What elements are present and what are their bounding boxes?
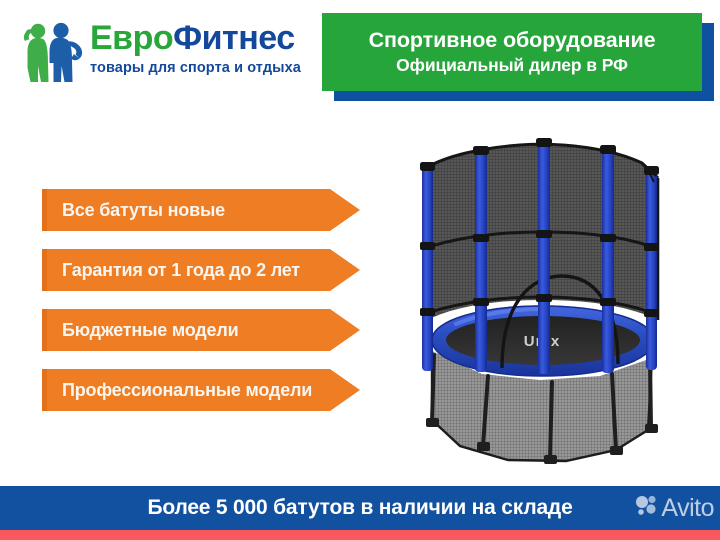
feature-label-1: Все батуты новые xyxy=(42,200,225,221)
feature-arrow-2: Гарантия от 1 года до 2 лет xyxy=(42,249,360,291)
promo-banner-page: ЕвроФитнес товары для спорта и отдыха Сп… xyxy=(0,0,720,540)
avito-dots-icon xyxy=(635,494,659,523)
footer-accent-strip xyxy=(0,530,720,540)
feature-label-2: Гарантия от 1 года до 2 лет xyxy=(42,260,300,281)
feature-label-4: Профессиональные модели xyxy=(42,380,312,401)
avito-watermark: Avito xyxy=(635,494,714,523)
footer-banner: Более 5 000 батутов в наличии на складе … xyxy=(0,486,720,540)
feature-label-3: Бюджетные модели xyxy=(42,320,238,341)
feature-arrow-1: Все батуты новые xyxy=(42,189,360,231)
trampoline-with-safety-net-photo: Unix xyxy=(390,108,720,478)
headline-banner-body: Спортивное оборудование Официальный диле… xyxy=(322,13,702,91)
avito-wordmark: Avito xyxy=(661,495,714,522)
headline-line-2: Официальный дилер в РФ xyxy=(396,54,628,77)
brand-tagline: товары для спорта и отдыха xyxy=(90,59,322,77)
brand-wordmark-part2: Фитнес xyxy=(173,19,294,57)
brand-wordmark: ЕвроФитнес xyxy=(90,18,322,58)
feature-arrow-4: Профессиональные модели xyxy=(42,369,360,411)
headline-line-1: Спортивное оборудование xyxy=(369,27,656,54)
brand-wordmark-part1: Евро xyxy=(90,19,173,57)
footer-text: Более 5 000 батутов в наличии на складе xyxy=(147,496,572,520)
feature-list: Все батуты новые Гарантия от 1 года до 2… xyxy=(42,189,362,429)
brand-logo-text: ЕвроФитнес товары для спорта и отдыха xyxy=(90,18,322,77)
feature-arrow-3: Бюджетные модели xyxy=(42,309,360,351)
two-athlete-silhouettes-icon xyxy=(22,20,88,82)
brand-logo: ЕвроФитнес товары для спорта и отдыха xyxy=(22,18,322,90)
headline-banner: Спортивное оборудование Официальный диле… xyxy=(322,13,702,91)
footer-banner-body: Более 5 000 батутов в наличии на складе xyxy=(0,486,720,530)
